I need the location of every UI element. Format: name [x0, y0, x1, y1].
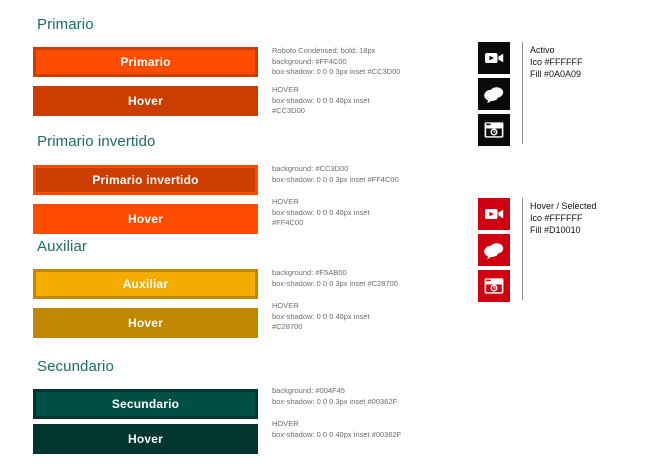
- vertical-divider: [522, 198, 523, 300]
- caption-line: Ico #FFFFFF: [530, 212, 597, 224]
- video-camera-icon-tile[interactable]: [478, 198, 510, 230]
- screen-capture-icon-tile[interactable]: [478, 270, 510, 302]
- button-default[interactable]: Auxiliar: [33, 269, 258, 299]
- video-camera-icon: [482, 46, 506, 70]
- caption-line: Activo: [530, 44, 583, 56]
- annotation-default: background: #004F45box-shadow: 0 0 0 3px…: [272, 386, 468, 407]
- annotation-line: HOVER: [272, 197, 468, 208]
- annotation-line: Roboto Condensed; bold; 18px: [272, 46, 468, 57]
- screen-capture-icon: [482, 118, 506, 142]
- annotation-line: HOVER: [272, 301, 468, 312]
- video-camera-icon-tile[interactable]: [478, 42, 510, 74]
- annotation-default: background: #F5AB00box-shadow: 0 0 0 3px…: [272, 268, 468, 289]
- annotation-line: box-shadow: 0 0 0 3px inset #00362F: [272, 397, 468, 408]
- icon-group-caption: ActivoIco #FFFFFFFill #0A0A09: [530, 44, 583, 80]
- annotations-column: Roboto Condensed; bold; 18pxbackground: …: [270, 0, 470, 470]
- annotation-line: #FF4C00: [272, 218, 468, 229]
- section-heading: Auxiliar: [37, 238, 87, 255]
- screen-capture-icon-tile[interactable]: [478, 114, 510, 146]
- caption-line: Hover / Selected: [530, 200, 597, 212]
- vertical-divider: [522, 42, 523, 144]
- caption-line: Fill #0A0A09: [530, 68, 583, 80]
- annotation-line: HOVER: [272, 419, 468, 430]
- annotation-line: box-shadow: 0 0 0 3px inset #CC3D00: [272, 67, 468, 78]
- button-default[interactable]: Primario: [33, 47, 258, 77]
- annotation-line: #C28700: [272, 322, 468, 333]
- button-default[interactable]: Secundario: [33, 389, 258, 419]
- annotation-hover: HOVERbox-shadow: 0 0 0 40px inset#C28700: [272, 301, 468, 333]
- annotation-default: background: #CC3D00box-shadow: 0 0 0 3px…: [272, 164, 468, 185]
- chat-bubble-icon-tile[interactable]: [478, 234, 510, 266]
- annotation-hover: HOVERbox-shadow: 0 0 0 40px inset#FF4C00: [272, 197, 468, 229]
- annotation-line: box-shadow: 0 0 0 40px inset: [272, 96, 468, 107]
- annotation-line: background: #F5AB00: [272, 268, 468, 279]
- button-specimens-column: PrimarioPrimarioHoverPrimario invertidoP…: [0, 0, 270, 470]
- annotation-line: background: #FF4C00: [272, 57, 468, 68]
- screen-capture-icon: [482, 274, 506, 298]
- chat-bubble-icon-tile[interactable]: [478, 78, 510, 110]
- annotation-default: Roboto Condensed; bold; 18pxbackground: …: [272, 46, 468, 78]
- annotation-line: box-shadow: 0 0 0 40px inset #00362F: [272, 430, 468, 441]
- caption-line: Fill #D10010: [530, 224, 597, 236]
- chat-bubble-icon: [482, 238, 506, 262]
- caption-line: Ico #FFFFFF: [530, 56, 583, 68]
- section-heading: Primario: [37, 16, 94, 33]
- annotation-line: #CC3D00: [272, 106, 468, 117]
- button-hover[interactable]: Hover: [33, 204, 258, 234]
- icon-group-caption: Hover / SelectedIco #FFFFFFFill #D10010: [530, 200, 597, 236]
- button-default[interactable]: Primario invertido: [33, 165, 258, 195]
- video-camera-icon: [482, 202, 506, 226]
- chat-bubble-icon: [482, 82, 506, 106]
- annotation-hover: HOVERbox-shadow: 0 0 0 40px inset #00362…: [272, 419, 468, 440]
- annotation-line: box-shadow: 0 0 0 40px inset: [272, 208, 468, 219]
- button-hover[interactable]: Hover: [33, 308, 258, 338]
- annotation-line: box-shadow: 0 0 0 40px inset: [272, 312, 468, 323]
- button-hover[interactable]: Hover: [33, 424, 258, 454]
- annotation-line: background: #CC3D00: [272, 164, 468, 175]
- annotation-hover: HOVERbox-shadow: 0 0 0 40px inset#CC3D00: [272, 85, 468, 117]
- annotation-line: background: #004F45: [272, 386, 468, 397]
- section-heading: Primario invertido: [37, 133, 156, 150]
- annotation-line: HOVER: [272, 85, 468, 96]
- annotation-line: box-shadow: 0 0 0 3px inset #C28700: [272, 279, 468, 290]
- section-heading: Secundario: [37, 358, 114, 375]
- annotation-line: box-shadow: 0 0 0 3px inset #FF4C00: [272, 175, 468, 186]
- button-hover[interactable]: Hover: [33, 86, 258, 116]
- icon-specimens-panel: ActivoIco #FFFFFFFill #0A0A09Hover / Sel…: [470, 0, 655, 470]
